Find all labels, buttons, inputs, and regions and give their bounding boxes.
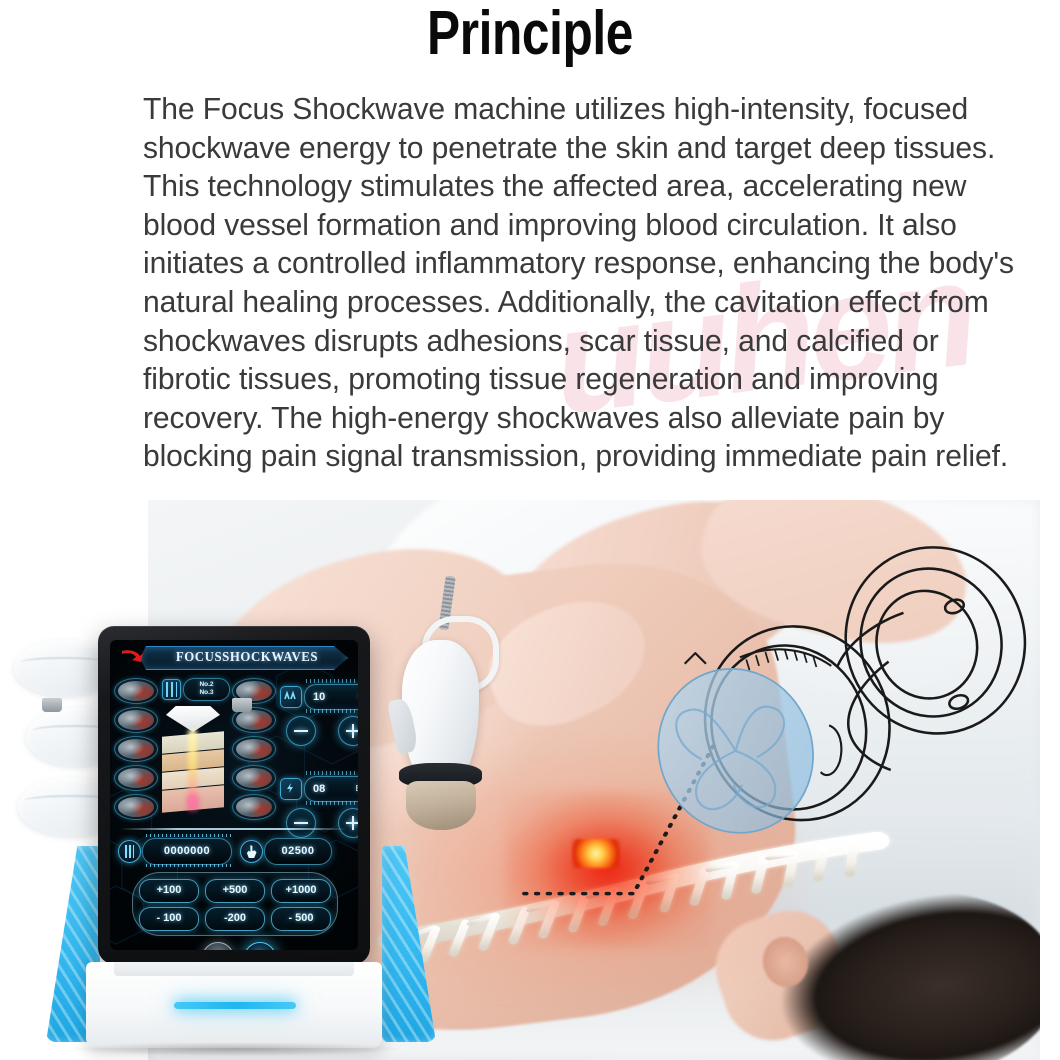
frequency-icon [280, 686, 302, 708]
chassis-lip [114, 962, 354, 976]
counter-dash-bottom [146, 864, 234, 867]
tissue-penetration-diagram [162, 706, 224, 814]
energy-bolt-icon [280, 778, 302, 800]
device-chassis [86, 962, 382, 1048]
device-shadow [70, 1042, 400, 1056]
energy-focal-point [186, 794, 200, 810]
preset-line-2: No.3 [184, 689, 229, 697]
step-plus-1000[interactable]: +1000 [271, 879, 331, 903]
frequency-value: 10 [313, 690, 325, 704]
hip-thumbnail[interactable] [232, 736, 276, 762]
frequency-decrease-button[interactable] [286, 716, 316, 746]
upper-arm-thumbnail[interactable] [114, 707, 158, 733]
frequency-tick-top [306, 679, 358, 683]
pulse-step-panel: +100 +500 +1000 - 100 -200 - 500 [132, 872, 338, 936]
hand-touch-icon [240, 840, 263, 863]
shoulder-thumbnail[interactable] [114, 678, 158, 704]
thumbnail-column-left [114, 678, 156, 823]
step-minus-100[interactable]: - 100 [139, 907, 199, 931]
step-minus-500[interactable]: - 500 [271, 907, 331, 931]
frequency-tick-bottom [306, 709, 358, 713]
page-title: Principle [106, 2, 954, 66]
step-plus-100[interactable]: +100 [139, 879, 199, 903]
device-screen[interactable]: FOCUSSHOCKWAVES [110, 640, 358, 950]
pressure-tick-top [306, 771, 358, 775]
counter-dash-top [146, 834, 234, 837]
total-pulse-value: 0000000 [143, 845, 231, 858]
preset-line-1: No.2 [184, 681, 229, 689]
pressure-unit: Bar [356, 784, 358, 794]
session-pulse-value: 02500 [265, 845, 331, 858]
pressure-tick-bottom [306, 801, 358, 805]
focus-head-shape [166, 706, 220, 732]
device-foot-left [42, 698, 62, 712]
focus-applicator-line-art [621, 500, 1040, 881]
device-monitor: FOCUSSHOCKWAVES [98, 626, 370, 964]
pressure-decrease-button[interactable] [286, 808, 316, 838]
stop-square-icon[interactable] [202, 942, 234, 950]
foot-thumbnail[interactable] [232, 794, 276, 820]
step-minus-200[interactable]: -200 [205, 907, 265, 931]
pressure-value: 08 [313, 782, 325, 796]
device-foot-right [232, 698, 252, 712]
screen-header: FOCUSSHOCKWAVES [114, 646, 354, 672]
screen-brand-title: FOCUSSHOCKWAVES [153, 648, 341, 666]
led-strip [174, 1002, 296, 1009]
device-wing-right [382, 846, 436, 1042]
focus-shockwave-device: FOCUSSHOCKWAVES [0, 618, 450, 1060]
red-arrow-icon [120, 647, 144, 667]
pressure-readout[interactable]: 08 Bar [304, 776, 358, 802]
total-pulse-counter[interactable]: 0000000 [142, 838, 232, 865]
calf-thumbnail[interactable] [232, 765, 276, 791]
counter-row: 0000000 02500 [116, 838, 352, 864]
knee-thumbnail[interactable] [114, 765, 158, 791]
program-list-icon [162, 679, 181, 700]
preset-readout[interactable]: No.2 No.3 [183, 678, 230, 701]
transport-bar [110, 940, 358, 950]
session-pulse-counter[interactable]: 02500 [264, 838, 332, 865]
step-plus-500[interactable]: +500 [205, 879, 265, 903]
ankle-thumbnail[interactable] [114, 794, 158, 820]
principle-paragraph: The Focus Shockwave machine utilizes hig… [143, 90, 1025, 476]
frequency-readout[interactable]: 10 Hz [304, 684, 358, 710]
pulse-count-icon [118, 840, 141, 863]
play-triangle-icon[interactable] [244, 942, 276, 950]
preset-selector[interactable]: No.2 No.3 [162, 678, 228, 700]
elbow-thumbnail[interactable] [114, 736, 158, 762]
screen-divider [120, 828, 348, 830]
